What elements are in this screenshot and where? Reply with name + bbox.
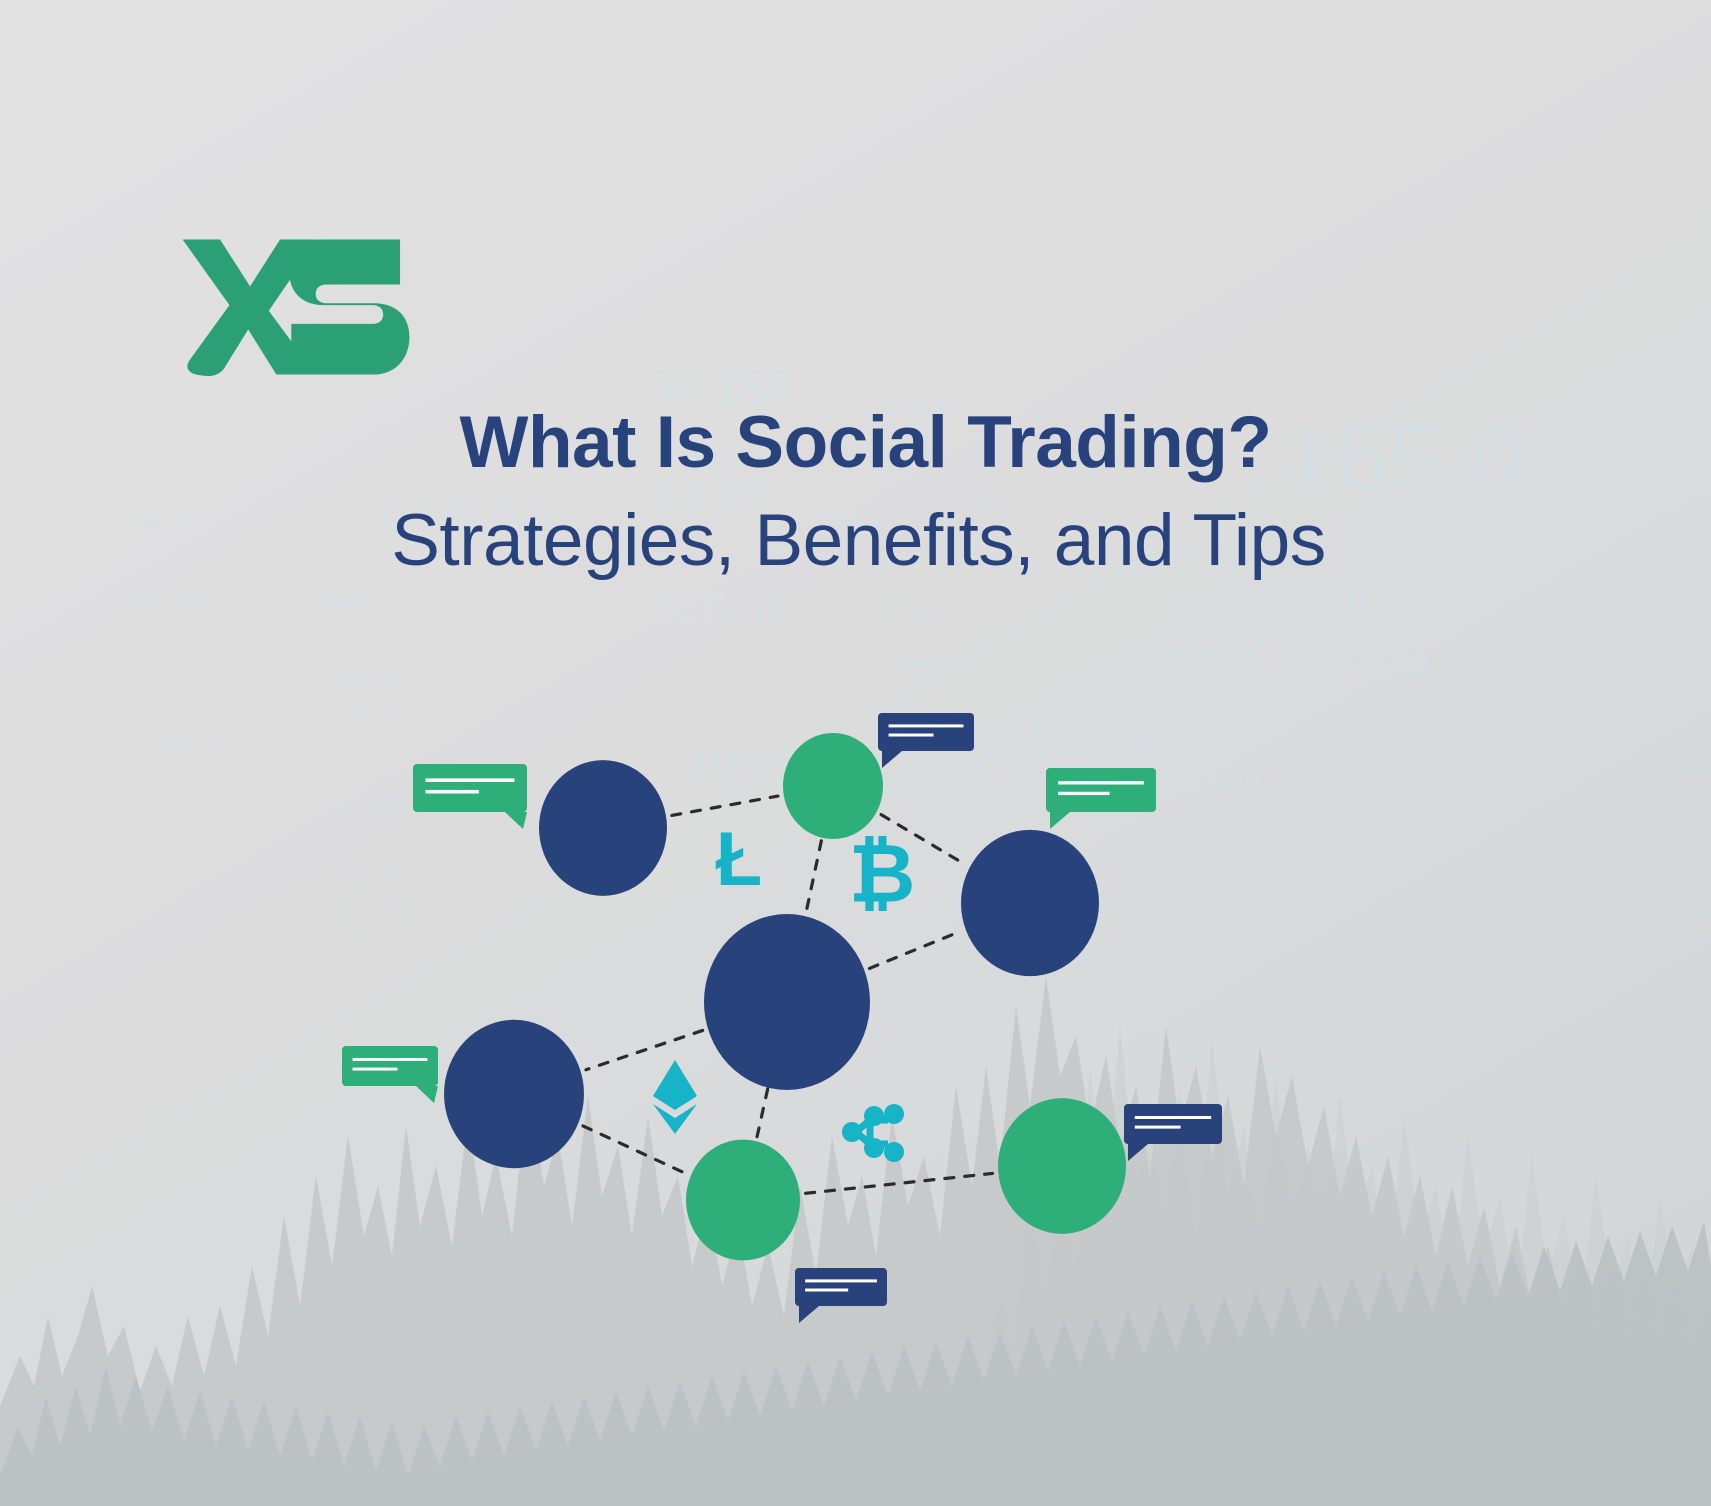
social-trading-network: Ł₿ <box>0 0 1711 1506</box>
bubble-text-line <box>1135 1126 1181 1129</box>
speech-bubble-bubble-mid-right[interactable] <box>1046 768 1156 829</box>
connection-line <box>806 1173 993 1193</box>
connection-line <box>583 1126 686 1174</box>
bubble-text-line <box>1058 792 1109 795</box>
bubble-text-line <box>353 1068 398 1071</box>
avatar-circle <box>539 760 667 896</box>
bubble-body <box>1124 1104 1222 1144</box>
speech-bubble-bubble-bottom-right[interactable] <box>1124 1104 1222 1161</box>
avatar-trader-left[interactable] <box>444 1020 584 1168</box>
bubble-text-line <box>889 724 964 727</box>
avatar-trader-bottom-right[interactable] <box>998 1098 1126 1235</box>
bubble-tail <box>1128 1144 1148 1161</box>
bitcoin-icon-glyph: ₿ <box>849 829 916 920</box>
bubble-body <box>342 1046 438 1086</box>
avatar-trader-top-left[interactable] <box>539 760 667 896</box>
bubble-text-line <box>805 1289 848 1292</box>
avatar-trader-top-center[interactable] <box>783 733 883 839</box>
bubble-text-line <box>426 790 479 794</box>
avatar-circle <box>783 733 883 839</box>
bubble-text-line <box>1135 1116 1211 1119</box>
bubble-tail <box>505 812 527 829</box>
avatar-circle <box>704 914 870 1090</box>
avatar-circle <box>444 1020 584 1168</box>
connection-line <box>869 931 960 968</box>
connection-line <box>806 841 822 915</box>
speech-bubble-bubble-top-left[interactable] <box>413 764 527 829</box>
speech-bubble-bubble-bottom-center[interactable] <box>795 1268 887 1323</box>
litecoin-icon-glyph: Ł <box>716 817 762 902</box>
litecoin-icon: Ł <box>716 817 762 902</box>
bubble-tail <box>799 1306 819 1323</box>
bubble-tail <box>1050 812 1070 829</box>
connection-line <box>672 796 778 815</box>
speech-bubble-bubble-top-right[interactable] <box>878 713 974 768</box>
speech-bubble-bubble-left[interactable] <box>342 1046 438 1103</box>
bubble-body <box>1046 768 1156 812</box>
bubble-text-line <box>426 778 515 782</box>
bubble-tail <box>416 1086 438 1103</box>
avatar-trader-right[interactable] <box>961 830 1099 976</box>
bubble-text-line <box>889 734 934 737</box>
avatar-circle <box>961 830 1099 976</box>
avatar-trader-center-main[interactable] <box>693 895 880 1104</box>
poster-canvas: 50.153165.0-15.50165.050.15314.25658.451… <box>0 0 1711 1506</box>
avatar-circle <box>686 1140 800 1261</box>
bubble-text-line <box>353 1058 428 1061</box>
connection-line <box>586 1030 703 1069</box>
bubble-body <box>878 713 974 751</box>
avatar-circle <box>998 1098 1126 1234</box>
bubble-body <box>413 764 527 812</box>
avatar-trader-bottom[interactable] <box>686 1140 800 1261</box>
connection-line <box>757 1089 768 1139</box>
bubble-tail <box>882 751 902 768</box>
bubble-body <box>795 1268 887 1306</box>
ethereum-icon <box>653 1060 697 1134</box>
bitcoin-icon: ₿ <box>849 829 916 920</box>
bubble-text-line <box>1058 781 1144 784</box>
bubble-text-line <box>805 1279 877 1282</box>
ripple-icon <box>842 1104 904 1162</box>
